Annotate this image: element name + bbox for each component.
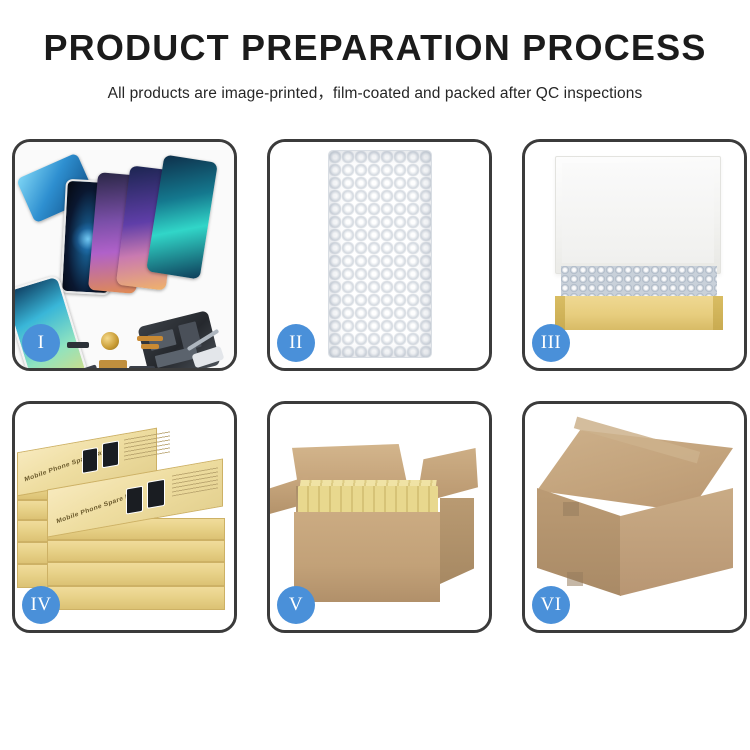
carton-tab-lower: [567, 572, 583, 586]
carton-side-panel: [440, 498, 474, 584]
box-screen-image-l2: [102, 440, 119, 468]
page-subtitle: All products are image-printed，film-coat…: [0, 81, 750, 103]
step-panel-v: V: [267, 401, 492, 633]
carton-front-panel: [294, 512, 440, 602]
battery-connector-part: [67, 342, 89, 348]
step-panel-i: I: [12, 139, 237, 371]
box-screen-image-l1: [82, 447, 98, 474]
product-preparation-infographic: PRODUCT PREPARATION PROCESS All products…: [0, 0, 750, 750]
header: PRODUCT PREPARATION PROCESS All products…: [0, 0, 750, 103]
flex-cable-part-2: [141, 344, 159, 349]
box-screen-image-r1: [126, 486, 143, 515]
open-box-lid: [555, 156, 721, 274]
carton-tab-upper: [563, 502, 579, 516]
camera-chip-part: [99, 360, 127, 368]
step-badge-ii: II: [277, 324, 315, 362]
kraft-box-front: [555, 296, 723, 330]
flex-cable-part-1: [137, 336, 163, 341]
box-screen-image-r2: [147, 479, 165, 509]
speaker-part: [101, 332, 119, 350]
step-badge-vi: VI: [532, 586, 570, 624]
step-badge-i: I: [22, 324, 60, 362]
stack-edge-r3: [47, 562, 225, 586]
step-badge-iii: III: [532, 324, 570, 362]
step-panel-iv: Mobile Phone Spare Parts Mobile Phone Sp…: [12, 401, 237, 633]
step-badge-v: V: [277, 586, 315, 624]
bubble-wrapped-contents: [561, 266, 717, 298]
step-badge-iv: IV: [22, 586, 60, 624]
steps-grid: I II III: [12, 139, 738, 633]
step-panel-iii: III: [522, 139, 747, 371]
flex-cable-part-4: [129, 366, 155, 368]
step-panel-vi: VI: [522, 401, 747, 633]
page-title: PRODUCT PREPARATION PROCESS: [0, 28, 750, 68]
stack-edge-r4: [47, 586, 225, 610]
bubble-wrapped-product: [328, 150, 432, 358]
stack-edge-r2: [47, 540, 225, 562]
step-panel-ii: II: [267, 139, 492, 371]
